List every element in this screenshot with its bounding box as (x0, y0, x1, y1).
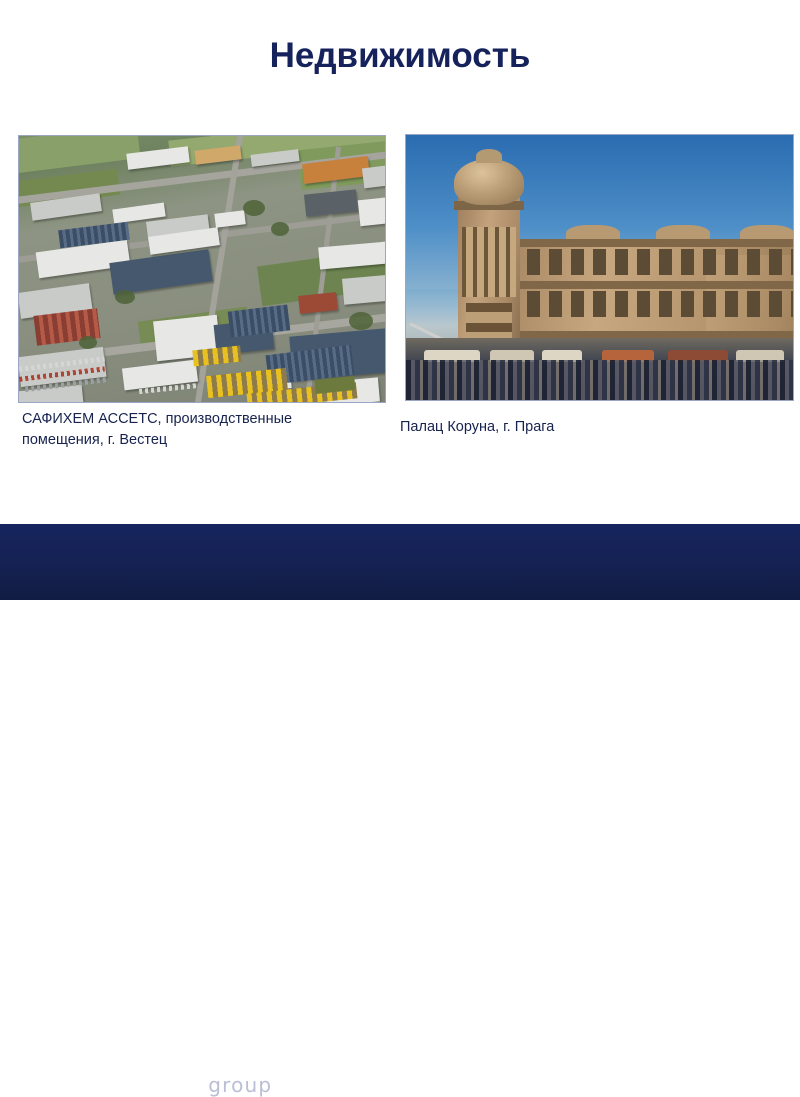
warehouse-building (362, 164, 385, 189)
palace-scene (406, 135, 793, 400)
warehouse-building (214, 210, 245, 228)
tower-finial (476, 149, 502, 163)
window-row (518, 249, 793, 275)
logo-bar-icon (276, 1077, 283, 1094)
logo-square-icon (60, 1077, 91, 1094)
logo-secondary-text: group (208, 1073, 272, 1097)
equipment-yard (192, 346, 241, 367)
warehouse-building (358, 196, 385, 226)
photo-right[interactable] (405, 134, 794, 401)
caption-right: Палац Коруна, г. Прага (400, 417, 740, 438)
photo-left[interactable] (18, 135, 386, 403)
tree-cluster (243, 200, 265, 216)
aerial-industrial-photo (19, 136, 385, 402)
koruna-palace-photo (406, 135, 793, 400)
footer-band: SAFICHEM group (0, 524, 800, 600)
field (19, 136, 141, 174)
tree-cluster (349, 312, 373, 330)
cornice (510, 281, 793, 289)
safichem-group-logo[interactable]: SAFICHEM group (60, 1073, 283, 1097)
pedestrian-crowd (406, 360, 793, 400)
tree-cluster (115, 290, 135, 304)
logo-primary-text: SAFICHEM (98, 1074, 201, 1096)
cornice (510, 239, 793, 247)
tree-cluster (271, 222, 289, 236)
tree-cluster (79, 336, 97, 349)
window-row (518, 291, 793, 317)
warehouse-building (298, 292, 338, 314)
street-level (406, 338, 793, 400)
page-title: Недвижимость (0, 34, 800, 78)
caption-left: САФИХЕМ АССЕТС, производственные помещен… (22, 409, 362, 451)
slide: Недвижимость (0, 0, 800, 600)
tower-colonnade (462, 227, 516, 297)
tower-dome (454, 159, 524, 205)
warehouse-building (342, 273, 385, 304)
aerial-scene (19, 136, 385, 402)
warehouse-building (304, 189, 358, 216)
